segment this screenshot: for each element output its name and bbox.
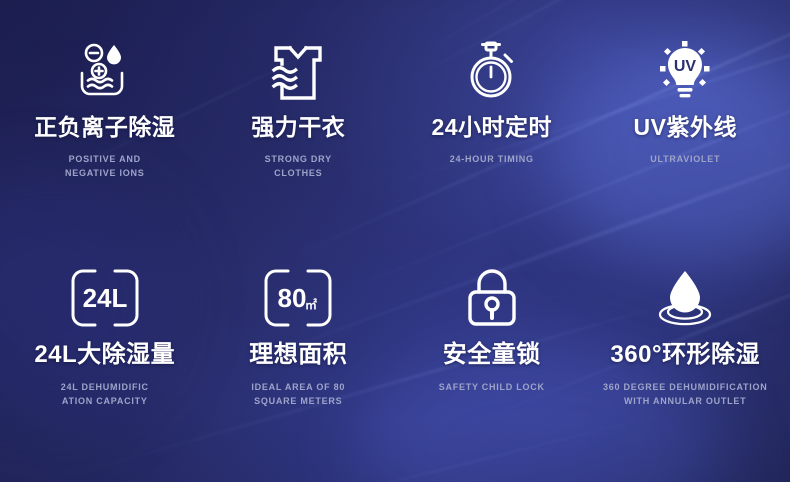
feature-subtitle: 24L DEHUMIDIFIC ATION CAPACITY (61, 381, 149, 409)
water-droplet-ripple-icon (654, 259, 716, 329)
feature-title: 正负离子除湿 (34, 116, 175, 139)
uv-bulb-icon: UV (654, 32, 716, 102)
feature-title: 强力干衣 (251, 116, 345, 139)
child-lock-icon (463, 259, 521, 329)
feature-card-area[interactable]: 80 ㎡ 理想面积 IDEAL AREA OF 80 SQUARE METERS (202, 245, 396, 464)
feature-subtitle: SAFETY CHILD LOCK (439, 381, 545, 395)
feature-title: 24L大除湿量 (34, 343, 175, 367)
feature-subtitle: POSITIVE AND NEGATIVE IONS (65, 153, 145, 181)
feature-subtitle: IDEAL AREA OF 80 SQUARE METERS (251, 381, 345, 409)
feature-card-child-lock[interactable]: 安全童锁 SAFETY CHILD LOCK (395, 245, 589, 464)
feature-title: UV紫外线 (634, 116, 737, 139)
uv-icon-label: UV (674, 58, 697, 75)
feature-title: 24小时定时 (431, 116, 552, 139)
feature-card-360-dehumidify[interactable]: 360°环形除湿 360 DEGREE DEHUMIDIFICATION WIT… (589, 245, 783, 464)
feature-title: 安全童锁 (443, 343, 541, 367)
capacity-icon-label: 24L (82, 283, 127, 313)
feature-card-uv[interactable]: UV UV紫外线 ULTRAVIOLET (589, 26, 783, 245)
area-80-sqm-icon: 80 ㎡ (262, 259, 334, 329)
area-icon-unit: ㎡ (305, 297, 317, 312)
feature-card-dry-clothes[interactable]: 强力干衣 STRONG DRY CLOTHES (202, 26, 396, 245)
feature-subtitle: 360 DEGREE DEHUMIDIFICATION WITH ANNULAR… (603, 381, 768, 409)
features-grid: 正负离子除湿 POSITIVE AND NEGATIVE IONS 强力干衣 S… (0, 0, 790, 482)
area-icon-label: 80 (278, 283, 307, 313)
feature-card-ion-dehumidify[interactable]: 正负离子除湿 POSITIVE AND NEGATIVE IONS (8, 26, 202, 245)
capacity-24l-icon: 24L (69, 259, 141, 329)
feature-banner: 正负离子除湿 POSITIVE AND NEGATIVE IONS 强力干衣 S… (0, 0, 790, 482)
feature-title: 理想面积 (249, 343, 347, 367)
stopwatch-timer-icon (463, 32, 521, 102)
dry-clothes-shirt-icon (268, 32, 328, 102)
feature-title: 360°环形除湿 (610, 343, 760, 367)
ion-dehumidify-icon (74, 32, 136, 102)
feature-card-timer[interactable]: 24小时定时 24-HOUR TIMING (395, 26, 589, 245)
feature-subtitle: 24-HOUR TIMING (450, 153, 534, 167)
feature-subtitle: ULTRAVIOLET (650, 153, 720, 167)
feature-card-capacity[interactable]: 24L 24L大除湿量 24L DEHUMIDIFIC ATION CAPACI… (8, 245, 202, 464)
feature-subtitle: STRONG DRY CLOTHES (265, 153, 332, 181)
